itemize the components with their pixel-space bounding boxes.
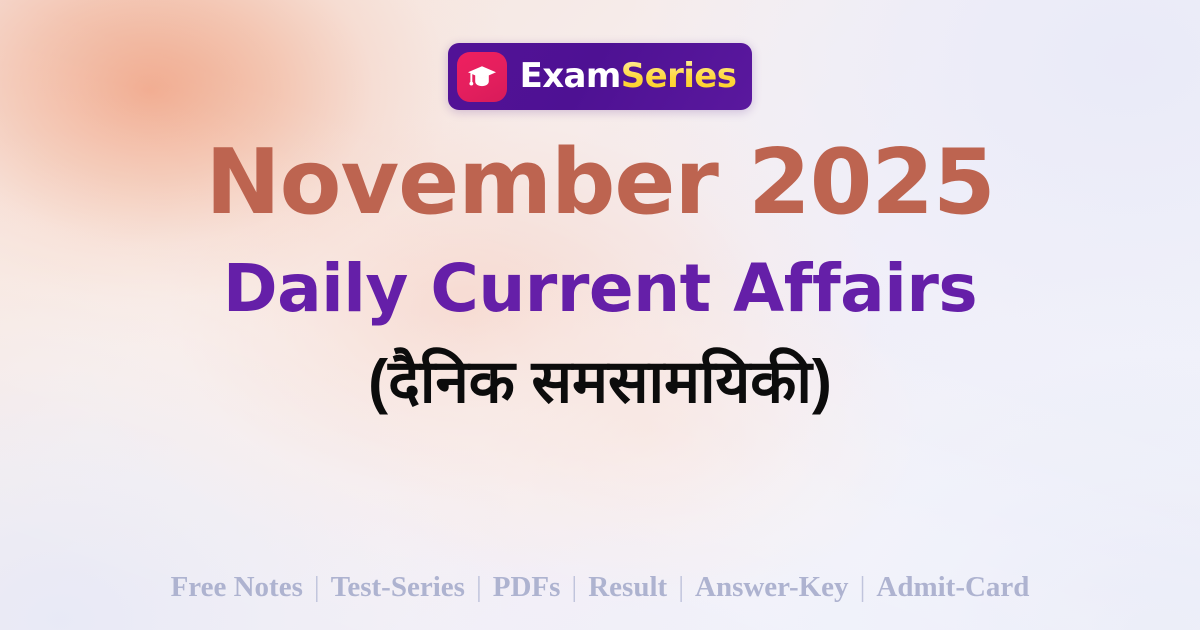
headline-subtitle-hindi: (दैनिक समसामयिकी) — [368, 350, 832, 413]
headline-title: Daily Current Affairs — [223, 256, 977, 322]
headline-month-year: November 2025 — [205, 138, 994, 228]
graduation-cap-icon — [457, 52, 507, 102]
brand-wordmark-part2: Series — [621, 56, 737, 96]
brand-wordmark: ExamSeries — [520, 59, 737, 95]
promo-banner: ExamSeries November 2025 Daily Current A… — [0, 0, 1200, 630]
banner-content: ExamSeries November 2025 Daily Current A… — [0, 0, 1200, 630]
brand-wordmark-part1: Exam — [520, 56, 621, 96]
brand-logo-badge[interactable]: ExamSeries — [448, 43, 753, 110]
